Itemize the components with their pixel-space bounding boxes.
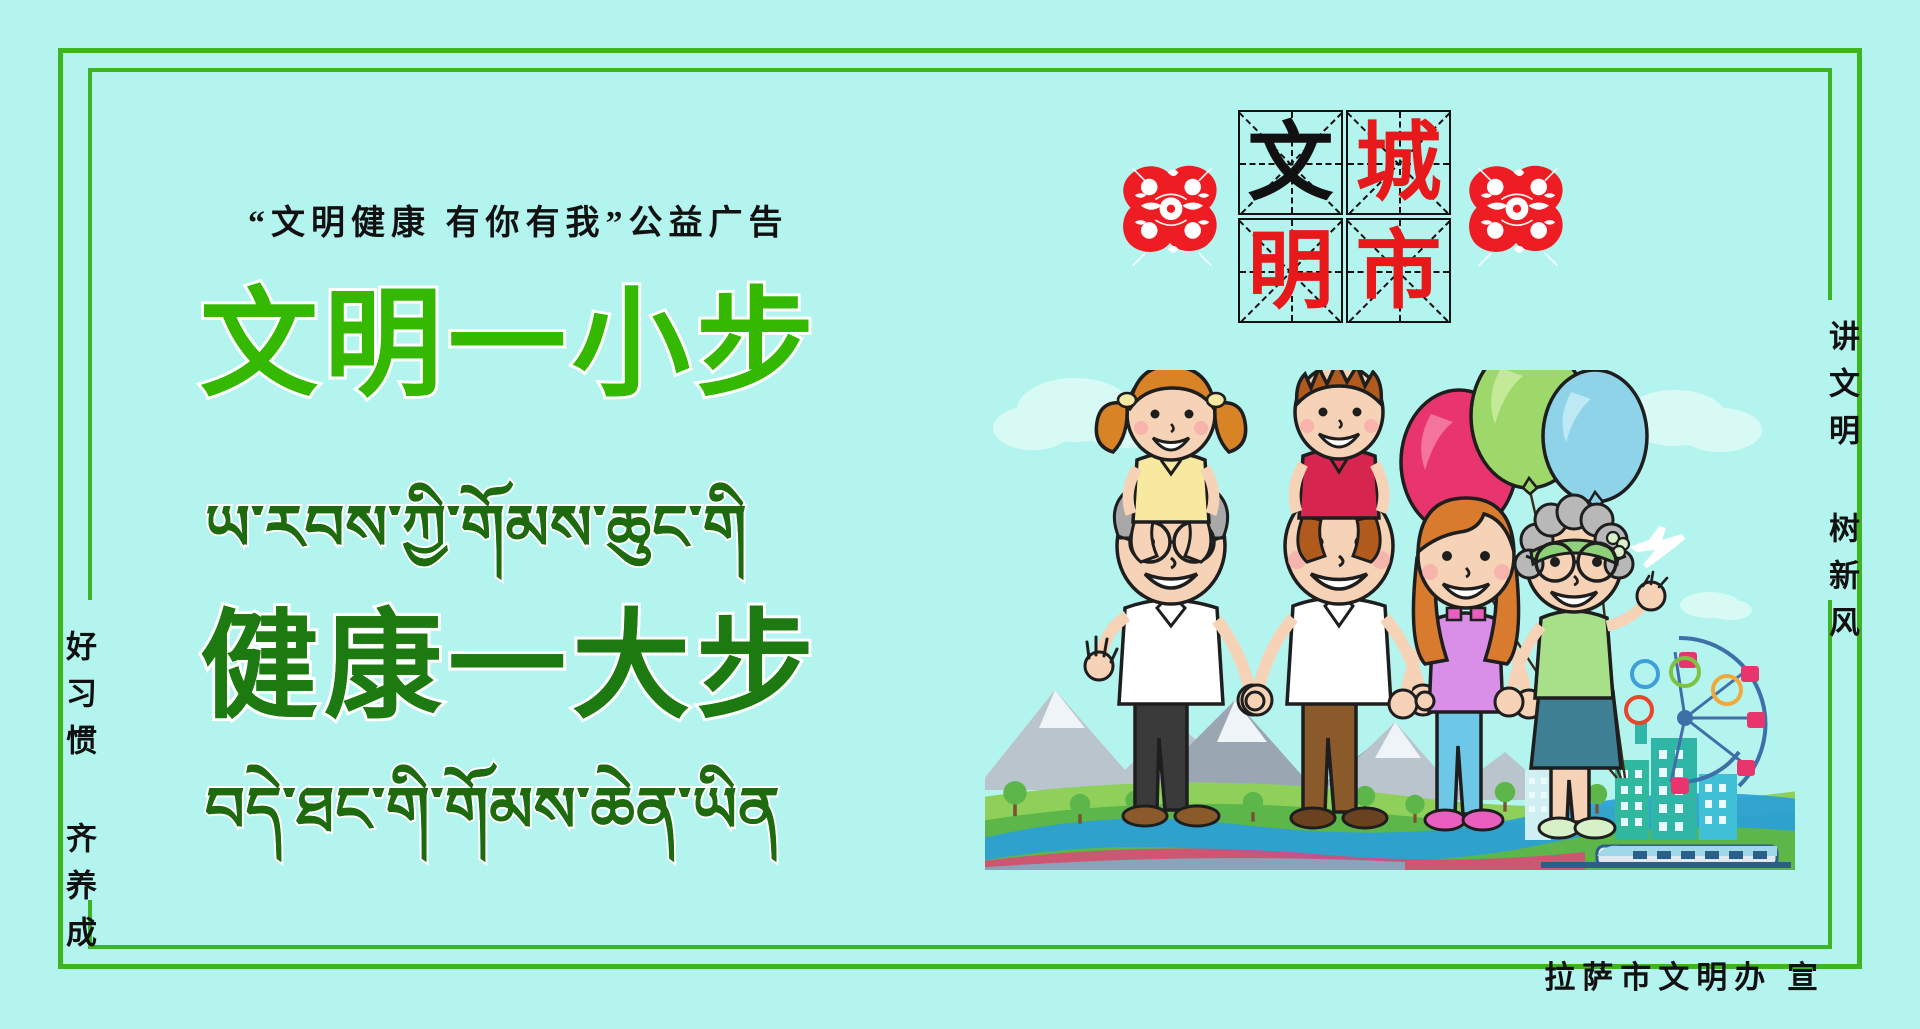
tianzige-cell-1: 文 (1238, 110, 1343, 215)
family-illustration (985, 370, 1795, 870)
emblem-char-1: 文 (1240, 112, 1341, 213)
papercut-ornament-right-icon (1466, 158, 1570, 276)
issuer-signature: 拉萨市文明办 宣 (1544, 952, 1825, 997)
tianzige-cell-2: 城 (1346, 110, 1451, 215)
emblem-char-3: 明 (1240, 220, 1341, 321)
papercut-ornament-left-icon (1120, 158, 1224, 276)
civilized-city-emblem: 文 城 明 市 (1120, 110, 1570, 325)
headline-2-tibetan: བདེ་ཐང་གི་གོམས་ཆེན་ཡིན (205, 740, 780, 915)
tianzige-grid: 文 城 明 市 (1238, 110, 1451, 323)
vertical-slogan-right: 讲文明 树新风 (1819, 320, 1864, 653)
tianzige-cell-3: 明 (1238, 218, 1343, 323)
poster-canvas: “文明健康 有你有我”公益广告 文明一小步 文明一小步 ཡ་རབས་ཀྱི་གོ… (0, 0, 1920, 1029)
emblem-char-2: 城 (1348, 112, 1449, 213)
vertical-slogan-left: 好习惯 齐养成 (56, 630, 101, 963)
headline-1: 文明一小步 (200, 248, 820, 419)
emblem-char-4: 市 (1348, 220, 1449, 321)
tianzige-cell-4: 市 (1346, 218, 1451, 323)
headline-2: 健康一大步 (200, 570, 820, 741)
campaign-subtitle: “文明健康 有你有我”公益广告 (248, 195, 789, 244)
